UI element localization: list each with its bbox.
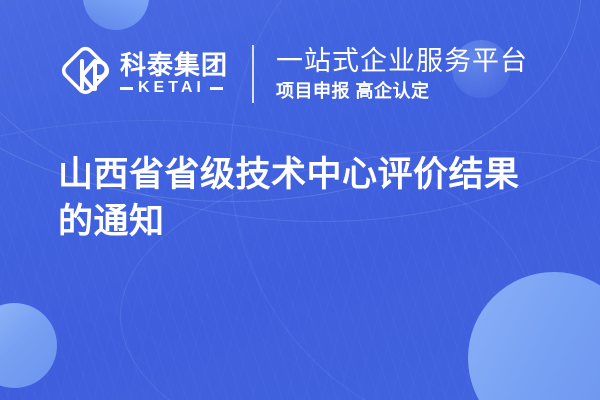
brand-lockup: 科泰集团 KETAI — [58, 46, 228, 102]
brand-rule-left — [120, 87, 133, 90]
decorative-circle-bottom-left — [0, 303, 57, 388]
brand-tagline-divider — [252, 45, 254, 103]
brand-name-cn: 科泰集团 — [120, 52, 228, 78]
brand-name-en: KETAI — [138, 80, 205, 96]
brand-rule-right — [210, 87, 223, 90]
brand-text: 科泰集团 KETAI — [120, 52, 228, 96]
decorative-circle-bottom-right — [468, 272, 600, 400]
brand-name-en-row: KETAI — [120, 80, 228, 96]
ketai-monogram-logo-icon — [58, 46, 110, 102]
tagline-sub: 项目申报 高企认定 — [276, 82, 528, 101]
article-title: 山西省省级技术中心评价结果的通知 — [58, 152, 552, 246]
tagline-main: 一站式企业服务平台 — [276, 47, 528, 75]
tagline-block: 一站式企业服务平台 项目申报 高企认定 — [276, 47, 528, 100]
banner-header: 科泰集团 KETAI 一站式企业服务平台 项目申报 高企认定 — [0, 0, 600, 148]
promo-banner: 科泰集团 KETAI 一站式企业服务平台 项目申报 高企认定 山西省省级技术中心… — [0, 0, 600, 400]
